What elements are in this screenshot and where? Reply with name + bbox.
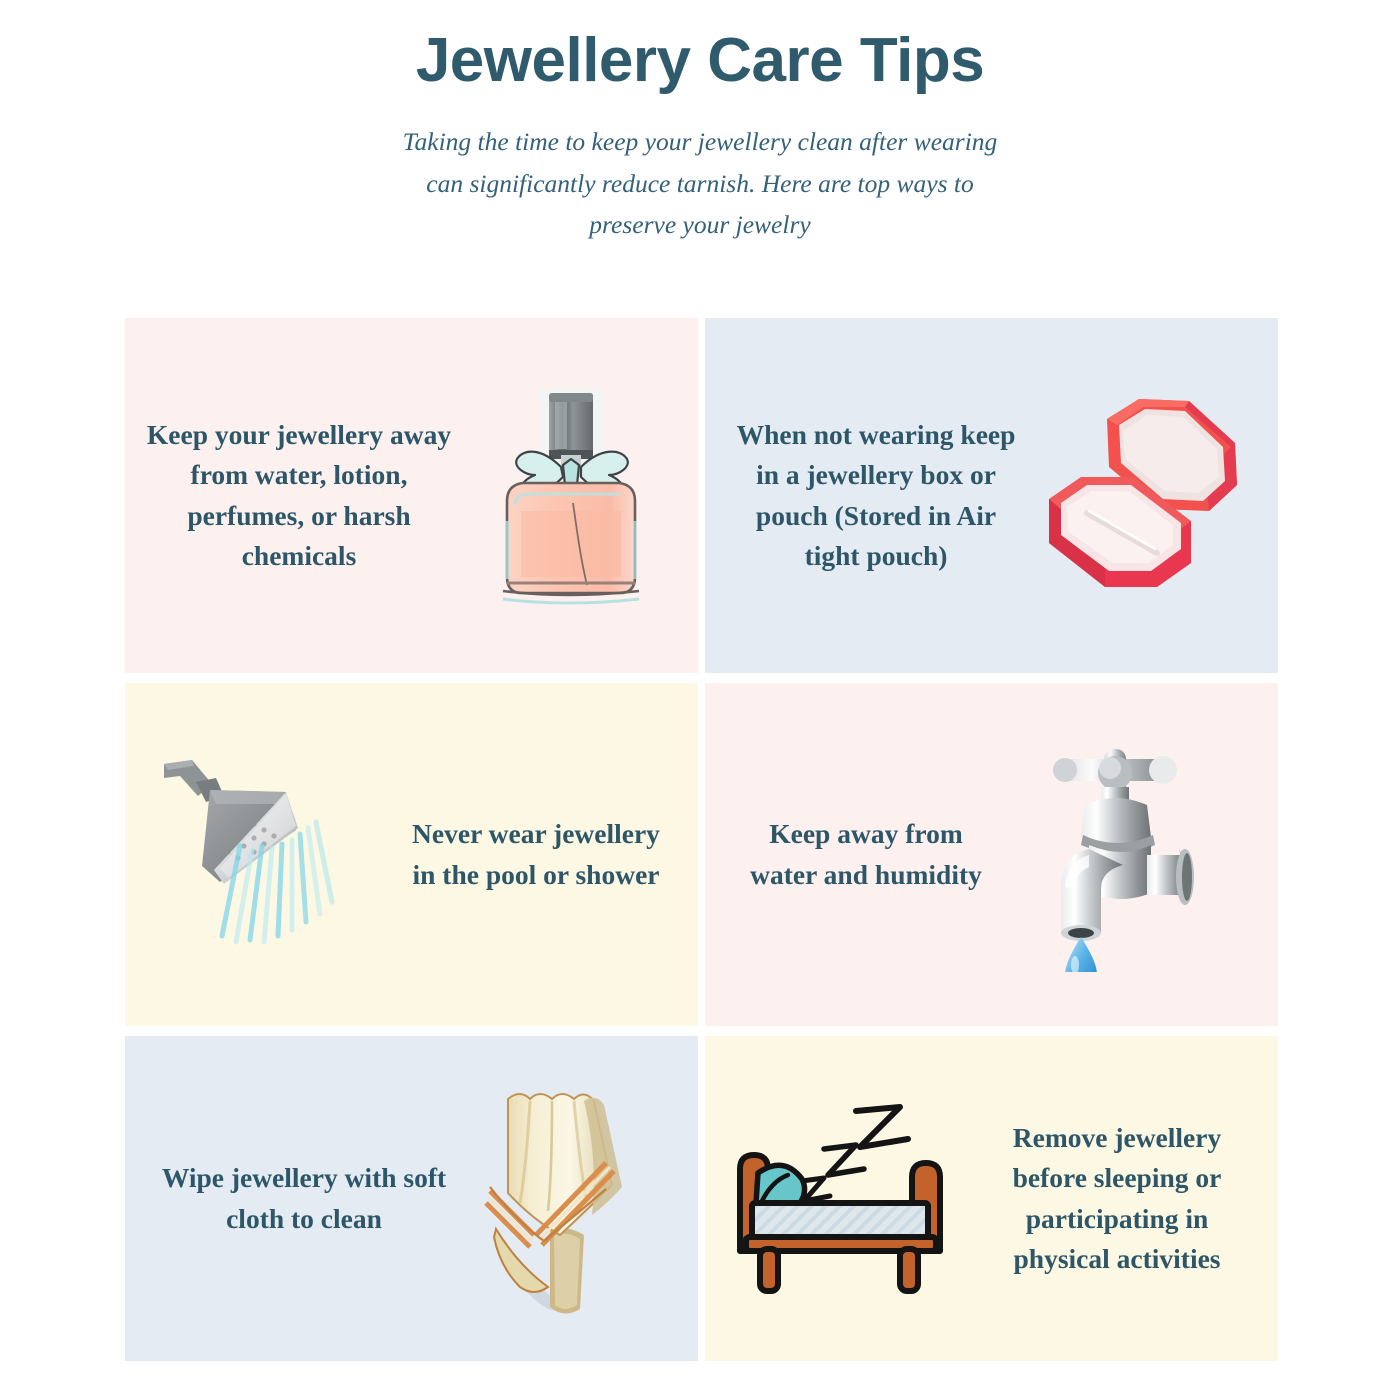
shower-head-icon (158, 750, 378, 960)
tip-card-jewellery-box: When not wearing keep in a jewellery box… (705, 318, 1278, 673)
tip-card-cloth: Wipe jewellery with soft cloth to clean (125, 1036, 698, 1361)
tip-text: When not wearing keep in a jewellery box… (705, 415, 1025, 577)
header: Jewellery Care Tips Taking the time to k… (0, 0, 1400, 245)
tip-text: Keep away from water and humidity (705, 814, 995, 895)
tip-card-sleep: Remove jewellery before sleeping or part… (705, 1036, 1278, 1361)
tip-illustration (125, 750, 398, 960)
perfume-bottle-icon (477, 371, 667, 621)
tip-card-humidity: Keep away from water and humidity (705, 683, 1278, 1026)
tip-text: Never wear jewellery in the pool or show… (398, 814, 698, 895)
soft-cloth-icon (476, 1079, 656, 1319)
page-subtitle: Taking the time to keep your jewellery c… (390, 121, 1010, 245)
tip-text: Wipe jewellery with soft cloth to clean (125, 1158, 455, 1239)
tip-illustration (455, 1079, 698, 1319)
tips-grid: Keep your jewellery away from water, lot… (125, 318, 1278, 1361)
tip-text: Keep your jewellery away from water, lot… (125, 415, 455, 577)
ring-box-icon (1039, 381, 1259, 611)
tip-text: Remove jewellery before sleeping or part… (978, 1118, 1278, 1280)
tip-card-shower: Never wear jewellery in the pool or show… (125, 683, 698, 1026)
tip-illustration (455, 371, 698, 621)
tip-illustration (995, 737, 1278, 972)
page-title: Jewellery Care Tips (0, 26, 1400, 95)
faucet-drip-icon (1035, 737, 1210, 972)
tip-card-perfume: Keep your jewellery away from water, lot… (125, 318, 698, 673)
tip-illustration (705, 1099, 978, 1299)
infographic-page: Jewellery Care Tips Taking the time to k… (0, 0, 1400, 1400)
tip-illustration (1025, 381, 1278, 611)
bed-sleep-icon (732, 1099, 962, 1299)
